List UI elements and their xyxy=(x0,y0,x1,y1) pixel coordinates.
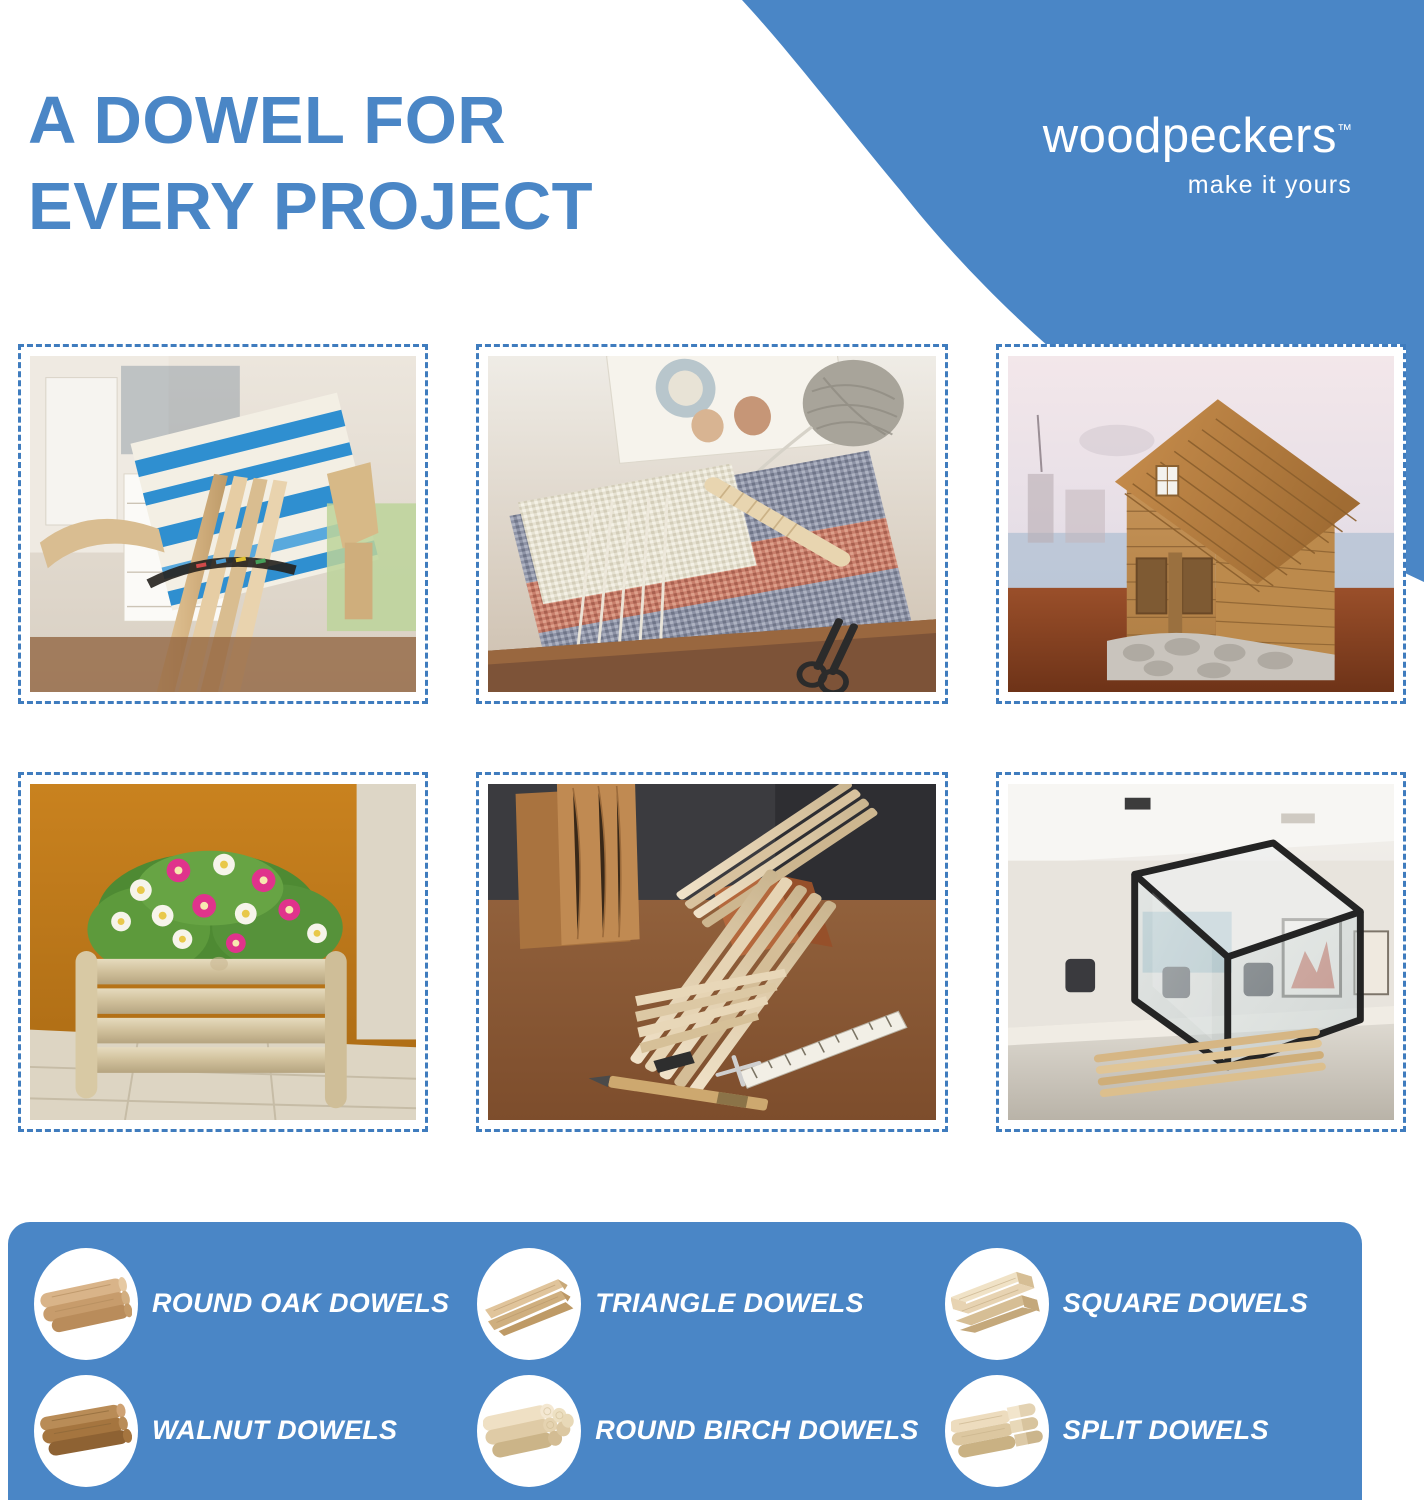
photo-display-case xyxy=(1008,784,1394,1120)
product-label: SQUARE DOWELS xyxy=(1063,1288,1308,1319)
brand-logo: woodpeckers™ make it yours xyxy=(922,112,1352,200)
photo-frame-planter-box xyxy=(18,772,428,1132)
page-title: A DOWEL FOR EVERY PROJECT xyxy=(28,78,788,250)
photo-weaving-loom xyxy=(30,356,416,692)
square-dowels-icon xyxy=(945,1248,1049,1360)
triangle-dowels-icon xyxy=(477,1248,581,1360)
photo-dowel-stock xyxy=(488,784,936,1120)
title-line-2: EVERY PROJECT xyxy=(28,164,788,250)
product-types-panel: ROUND OAK DOWELS xyxy=(8,1222,1362,1500)
product-item-walnut-dowels[interactable]: WALNUT DOWELS xyxy=(8,1367,451,1494)
brand-logo-wordmark: woodpeckers™ xyxy=(1043,112,1352,161)
photo-handweaving xyxy=(488,356,936,692)
dowel-infographic-page: A DOWEL FOR EVERY PROJECT woodpeckers™ m… xyxy=(0,0,1424,1500)
product-item-round-birch-dowels[interactable]: ROUND BIRCH DOWELS xyxy=(451,1367,918,1494)
photo-frame-log-cabin xyxy=(996,344,1406,704)
product-types-grid: ROUND OAK DOWELS xyxy=(8,1240,1362,1494)
walnut-dowels-icon xyxy=(34,1375,138,1487)
title-line-1: A DOWEL FOR xyxy=(28,78,788,164)
product-label: SPLIT DOWELS xyxy=(1063,1415,1269,1446)
photo-frame-weaving-loom xyxy=(18,344,428,704)
product-item-square-dowels[interactable]: SQUARE DOWELS xyxy=(919,1240,1362,1367)
photo-frame-handweaving xyxy=(476,344,948,704)
product-item-split-dowels[interactable]: SPLIT DOWELS xyxy=(919,1367,1362,1494)
brand-logo-name: woodpeckers xyxy=(1043,109,1337,163)
round-oak-dowels-icon xyxy=(34,1248,138,1360)
project-photo-grid xyxy=(18,344,1406,1132)
round-birch-dowels-icon xyxy=(477,1375,581,1487)
product-label: ROUND OAK DOWELS xyxy=(152,1288,449,1319)
trademark-icon: ™ xyxy=(1337,122,1352,139)
photo-frame-dowel-stock xyxy=(476,772,948,1132)
brand-tagline: make it yours xyxy=(922,171,1352,200)
product-item-round-oak-dowels[interactable]: ROUND OAK DOWELS xyxy=(8,1240,451,1367)
split-dowels-icon xyxy=(945,1375,1049,1487)
product-item-triangle-dowels[interactable]: TRIANGLE DOWELS xyxy=(451,1240,918,1367)
product-label: WALNUT DOWELS xyxy=(152,1415,397,1446)
photo-frame-display-case xyxy=(996,772,1406,1132)
photo-log-cabin xyxy=(1008,356,1394,692)
product-label: ROUND BIRCH DOWELS xyxy=(595,1415,918,1446)
product-label: TRIANGLE DOWELS xyxy=(595,1288,864,1319)
photo-planter-box xyxy=(30,784,416,1120)
